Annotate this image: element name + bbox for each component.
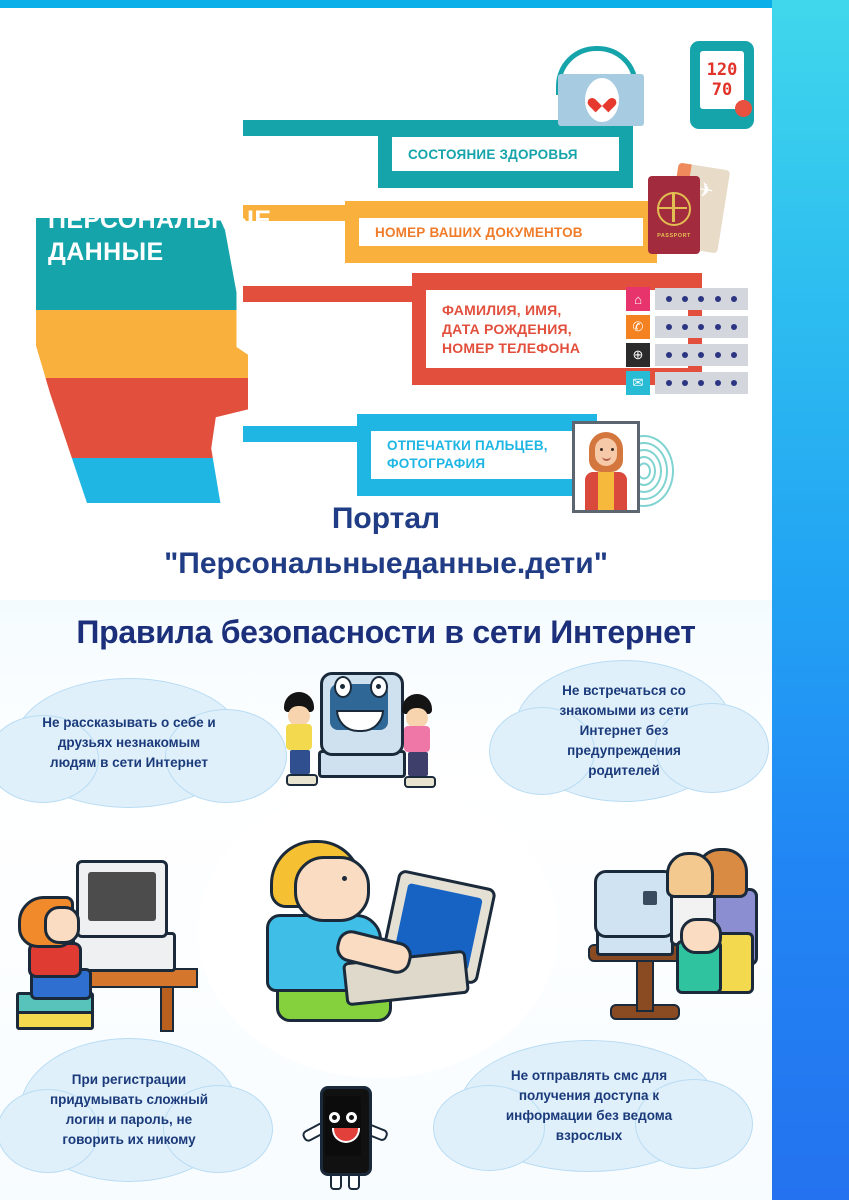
contact-row-mail: ✉ xyxy=(626,371,748,395)
biometrics-line1: ОТПЕЧАТКИ ПАЛЬЦЕВ, xyxy=(387,437,548,455)
callout-health: СОСТОЯНИЕ ЗДОРОВЬЯ xyxy=(378,120,633,188)
passport-label: PASSPORT xyxy=(657,233,691,239)
boy-shoes xyxy=(286,774,318,786)
envelope-icon: ✉ xyxy=(626,371,650,395)
boy-face xyxy=(288,706,310,726)
callout-documents: НОМЕР ВАШИХ ДОКУМЕНТОВ xyxy=(345,201,657,263)
heart-badge xyxy=(585,78,619,122)
callout-biometrics-label: ОТПЕЧАТКИ ПАЛЬЦЕВ, ФОТОГРАФИЯ xyxy=(371,437,548,473)
personal-data-infographic: ПЕРСОНАЛЬНЫЕ ДАННЫЕ СОСТОЯНИЕ ЗДОРОВЬЯ 1… xyxy=(0,8,772,500)
contact-row-globe: ⊕ xyxy=(626,343,748,367)
photo-face xyxy=(595,438,617,466)
blood-pressure-display: 120 70 xyxy=(700,51,744,109)
child-head xyxy=(680,918,722,954)
rail-name xyxy=(243,286,423,302)
illustration-family-at-computer xyxy=(580,848,766,1038)
illustration-kids-with-monitor xyxy=(278,668,440,790)
laptop-boy-eye xyxy=(342,876,347,881)
portal-title: Портал "Персональныеданные.дети" xyxy=(0,497,772,587)
passport-globe-icon xyxy=(657,192,691,226)
contact-field-list: ⌂ ✆ ⊕ ✉ xyxy=(626,287,748,399)
callout-biometrics-inner: ОТПЕЧАТКИ ПАЛЬЦЕВ, ФОТОГРАФИЯ xyxy=(371,431,583,479)
boy-figure xyxy=(284,692,320,786)
biometrics-line2: ФОТОГРАФИЯ xyxy=(387,455,548,473)
diastolic-value: 70 xyxy=(712,80,732,100)
callout-documents-inner: НОМЕР ВАШИХ ДОКУМЕНТОВ xyxy=(359,218,643,246)
rule-cloud-2-text: Не встречаться со знакомыми из сети Инте… xyxy=(515,681,733,781)
head-label-line2: ДАННЫЕ xyxy=(48,236,272,268)
desk-boy-face xyxy=(44,906,80,944)
passport-booklet: PASSPORT xyxy=(648,176,700,254)
girl-shoes xyxy=(404,776,436,788)
identity-line2: ДАТА РОЖДЕНИЯ, xyxy=(442,320,580,339)
phone-screen xyxy=(325,1096,361,1156)
girl-legs xyxy=(408,752,428,776)
monitor-eye-right xyxy=(370,676,388,698)
callout-documents-label: НОМЕР ВАШИХ ДОКУМЕНТОВ xyxy=(359,225,583,240)
rule-cloud-4-text: Не отправлять смс для получения доступа … xyxy=(461,1066,717,1146)
girl-shirt xyxy=(404,726,430,752)
desktop-tower xyxy=(72,932,176,972)
portal-title-line1: Портал xyxy=(0,497,772,541)
boy-shirt xyxy=(286,724,312,750)
callout-health-label: СОСТОЯНИЕ ЗДОРОВЬЯ xyxy=(392,147,578,162)
illustration-boy-at-desktop xyxy=(10,848,200,1034)
illustration-smiling-phone xyxy=(298,1082,386,1194)
laptop-boy-face xyxy=(294,856,370,922)
girl-figure xyxy=(402,694,438,788)
callout-health-inner: СОСТОЯНИЕ ЗДОРОВЬЯ xyxy=(392,137,619,171)
callout-biometrics: ОТПЕЧАТКИ ПАЛЬЦЕВ, ФОТОГРАФИЯ xyxy=(357,414,597,496)
globe-value-bar xyxy=(655,344,748,366)
identity-line1: ФАМИЛИЯ, ИМЯ, xyxy=(442,301,580,320)
identity-line3: НОМЕР ТЕЛЕФОНА xyxy=(442,339,580,358)
table-stem xyxy=(636,958,654,1012)
head-band-red xyxy=(36,378,248,458)
top-accent-bar xyxy=(0,0,772,8)
phone-eye-left xyxy=(329,1112,340,1123)
mail-value-bar xyxy=(655,372,748,394)
right-gradient-bar xyxy=(772,0,849,1200)
desk-leg xyxy=(160,984,174,1032)
phone-eye-right xyxy=(346,1112,357,1123)
head-label: ПЕРСОНАЛЬНЫЕ ДАННЫЕ xyxy=(48,204,272,268)
girl-face xyxy=(406,708,428,728)
phone-icon: ✆ xyxy=(626,315,650,339)
monitor-button xyxy=(735,100,752,117)
family-computer-monitor xyxy=(594,870,676,938)
rule-cloud-4: Не отправлять смс для получения доступа … xyxy=(460,1040,718,1172)
contact-row-phone: ✆ xyxy=(626,315,748,339)
home-value-bar xyxy=(655,288,748,310)
illustration-boy-with-laptop xyxy=(258,836,508,1036)
globe-icon: ⊕ xyxy=(626,343,650,367)
rules-title: Правила безопасности в сети Интернет xyxy=(0,614,772,651)
heart-icon xyxy=(593,92,611,109)
contact-row-home: ⌂ xyxy=(626,287,748,311)
phone-value-bar xyxy=(655,316,748,338)
boy-legs xyxy=(290,750,310,774)
photo-eye-right xyxy=(611,448,614,451)
poster-slide: ПЕРСОНАЛЬНЫЕ ДАННЫЕ СОСТОЯНИЕ ЗДОРОВЬЯ 1… xyxy=(0,0,849,1200)
mother-head xyxy=(666,852,714,898)
rail-health-top xyxy=(243,120,391,136)
rule-cloud-3-text: При регистрации придумывать сложный логи… xyxy=(21,1070,237,1150)
head-band-orange xyxy=(36,310,248,378)
desktop-monitor xyxy=(76,860,168,938)
portal-title-line2: "Персональныеданные.дети" xyxy=(0,541,772,587)
photo-eye-left xyxy=(600,448,603,451)
rule-cloud-2: Не встречаться со знакомыми из сети Инте… xyxy=(514,660,734,802)
rule-cloud-1-text: Не рассказывать о себе и друзьях незнако… xyxy=(15,713,243,773)
home-icon: ⌂ xyxy=(626,287,650,311)
systolic-value: 120 xyxy=(707,60,738,80)
rail-bio xyxy=(243,426,368,442)
rule-cloud-1: Не рассказывать о себе и друзьях незнако… xyxy=(14,678,244,808)
internet-safety-section: Правила безопасности в сети Интернет Не … xyxy=(0,600,772,1200)
rule-cloud-3: При регистрации придумывать сложный логи… xyxy=(20,1038,238,1182)
callout-identity-label: ФАМИЛИЯ, ИМЯ, ДАТА РОЖДЕНИЯ, НОМЕР ТЕЛЕФ… xyxy=(426,301,580,358)
head-silhouette xyxy=(18,113,248,503)
head-label-line1: ПЕРСОНАЛЬНЫЕ xyxy=(48,204,272,236)
monitor-eye-left xyxy=(334,676,352,698)
